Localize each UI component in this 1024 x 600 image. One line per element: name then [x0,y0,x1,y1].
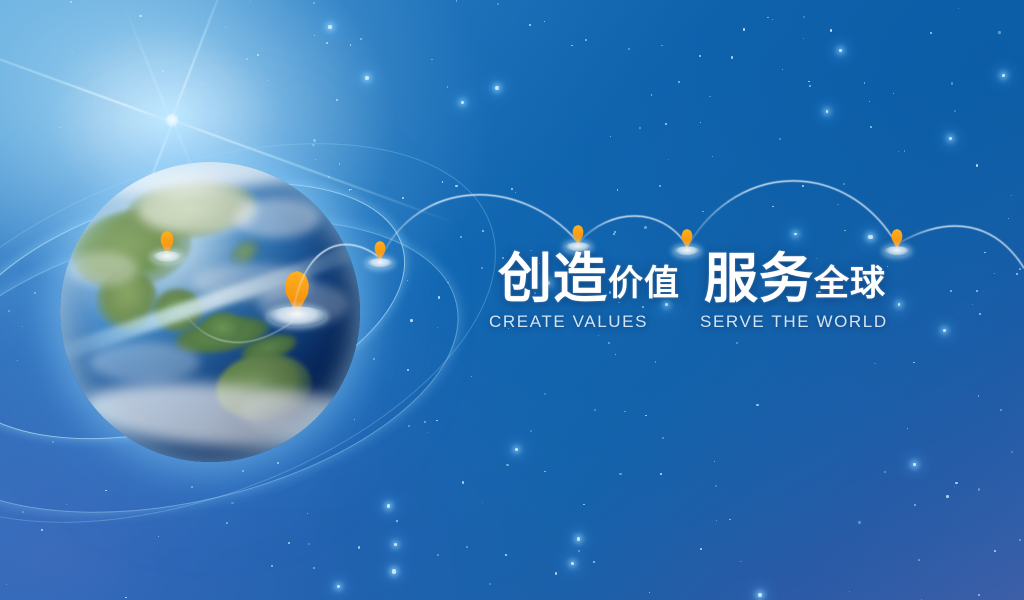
star-particle [858,521,860,523]
star-particle [946,495,949,498]
pin-marker-base [884,246,910,256]
banner-stage: 创造 价值 服务 全球 CREATE VALUES SERVE THE WORL… [0,0,1024,600]
star-particle [571,45,573,47]
globe-atmosphere-rim [60,162,360,462]
star-particle [979,313,982,316]
star-particle [172,123,173,124]
star-particle [17,360,18,361]
star-particle [271,565,273,567]
star-particle [615,354,616,355]
star-particle [312,144,314,146]
star-particle [645,415,647,417]
star-particle [231,502,233,504]
star-particle [392,569,396,573]
star-particle [571,562,574,565]
star-particle [437,327,438,328]
star-particle [803,38,804,39]
star-particle [958,8,959,9]
arc-1-to-2 [381,195,577,257]
star-particle [1002,74,1005,77]
star-particle [702,211,704,213]
star-particle [943,329,946,332]
star-particle [506,464,508,466]
star-particle [951,82,953,84]
star-particle [869,101,870,102]
route-pin-3 [680,230,694,252]
star-particle [407,280,409,282]
star-particle [699,55,701,57]
star-particle [893,93,894,94]
star-particle [978,594,980,596]
star-particle [436,420,437,421]
star-particle [529,24,531,26]
star-particle [455,185,457,187]
star-particle [288,542,290,544]
star-particle [849,591,850,592]
star-particle [314,35,315,36]
arc-2-to-3 [579,216,686,244]
star-particle [839,49,842,52]
star-particle [809,85,811,87]
star-particle [307,513,308,514]
star-particle [913,362,915,364]
star-particle [954,486,955,487]
star-particle [8,310,10,312]
star-particle [336,99,338,101]
star-particle [913,463,915,465]
star-particle [358,546,361,549]
star-particle [555,572,557,574]
star-particle [617,189,619,191]
star-particle [495,86,499,90]
star-particle [1019,268,1021,270]
star-particle [642,306,644,308]
star-particle [72,51,73,52]
star-particle [659,185,661,187]
star-particle [437,554,439,556]
star-particle [779,138,781,140]
star-particle [424,421,426,423]
star-particle [578,550,580,552]
star-particle [628,48,630,50]
star-particle [660,473,662,475]
star-particle [972,304,973,305]
headline-secondary-1: 价值 [608,264,680,306]
star-particle [870,126,872,128]
star-particle [844,230,845,231]
arc-3-to-4 [689,181,896,244]
star-particle [41,529,43,531]
star-particle [665,123,667,125]
star-particle [326,42,328,44]
star-particle [394,543,398,547]
star-particle [154,125,156,127]
pin-marker-drop [682,229,693,249]
star-particle [70,1,72,3]
star-particle [1011,195,1013,197]
route-pin-2 [571,226,585,248]
star-particle [930,32,932,34]
star-particle [360,38,363,41]
star-particle [976,164,978,166]
star-particle [6,584,8,586]
star-particle [267,80,268,81]
star-particle [431,59,433,61]
route-pin-1 [373,242,387,264]
star-particle [608,342,610,344]
star-particle [950,290,952,292]
globe-sphere [60,162,360,462]
star-particle [22,326,23,327]
star-particle [782,69,784,71]
star-particle [328,25,331,28]
star-particle [250,1,251,2]
star-particle [456,0,458,2]
star-particle [438,296,440,298]
star-particle [1011,451,1014,454]
star-particle [714,461,715,462]
star-particle [139,15,141,17]
lens-flare-ray [0,18,172,122]
star-particle [898,303,900,305]
star-particle [954,110,956,112]
star-particle [729,519,731,521]
star-particle [808,81,810,83]
star-particle [515,448,518,451]
star-particle [709,96,710,97]
star-particle [105,490,107,492]
star-particle [731,56,733,58]
star-particle [544,21,545,22]
star-particle [728,201,729,202]
star-particle [743,28,746,31]
lens-flare-ray [121,0,172,121]
star-particle [644,226,646,228]
star-particle [402,197,404,199]
star-particle [887,266,888,267]
star-particle [242,470,244,472]
star-particle [955,482,957,484]
star-particle [315,159,316,160]
star-particle [407,369,409,371]
star-particle [337,585,340,588]
star-particle [308,543,310,545]
star-particle [410,319,413,322]
star-particle [715,485,718,488]
headline-emphasis-1: 创造 [498,252,608,306]
star-particle [482,502,484,504]
star-particle [803,16,806,19]
star-particle [447,282,449,284]
star-particle [246,58,248,60]
star-particle [994,273,996,275]
star-particle [976,290,978,292]
star-particle [460,236,462,238]
star-particle [365,76,368,79]
star-particle [639,127,641,129]
star-particle [624,411,626,413]
star-particle [998,31,1001,34]
star-particle [1000,409,1002,411]
star-particle [772,19,773,20]
pin-marker-drop [573,225,584,245]
star-particle [511,188,513,190]
star-particle [544,393,546,395]
star-particle [442,181,443,182]
star-particle [649,592,650,593]
star-particle [408,425,410,427]
star-particle [843,183,845,185]
star-particle [373,358,376,361]
pin-marker-base [367,258,393,268]
star-particle [505,554,507,556]
star-particle [577,537,581,541]
star-particle [257,54,259,56]
star-particle [758,593,762,597]
star-particle [772,206,774,208]
star-particle [22,511,24,513]
star-particle [350,44,351,45]
star-particle [874,363,875,364]
star-particle [471,376,472,377]
star-particle [482,230,484,232]
star-particle [613,233,615,235]
star-particle [700,122,701,123]
star-particle [530,430,532,432]
star-particle [277,462,279,464]
star-particle [660,473,662,475]
star-particle [1008,218,1009,219]
star-particle [481,267,483,269]
star-particle [593,561,595,563]
star-particle [226,522,228,524]
star-particle [162,70,163,71]
star-particle [668,159,669,160]
star-particle [868,235,872,239]
star-particle [313,567,315,569]
star-particle [598,335,599,336]
star-particle [191,486,194,489]
lens-flare-ray [170,0,233,121]
star-particle [585,39,587,41]
star-particle [826,110,829,113]
arc-4-to-edge [899,226,1024,268]
star-particle [898,151,899,152]
star-particle [461,101,464,104]
subtitle-create-values: CREATE VALUES [489,312,648,332]
star-particle [489,583,491,585]
star-particle [52,441,54,443]
star-particle [904,150,906,152]
star-particle [447,86,449,88]
star-particle [1016,273,1018,275]
star-particle [661,45,662,46]
pin-marker-drop [375,241,386,261]
star-particle [34,292,36,294]
star-particle [978,395,980,397]
star-particle [651,94,653,96]
star-particle [156,159,157,160]
star-particle [462,481,464,483]
star-particle [515,192,516,193]
star-particle [736,342,738,344]
star-particle [655,361,657,363]
headline-emphasis-2: 服务 [704,252,814,306]
star-particle [427,432,428,433]
star-particle [619,473,621,475]
star-particle [678,81,680,83]
star-particle [837,204,839,206]
star-particle [884,471,886,473]
pin-marker-drop [892,229,903,249]
headline: 创造 价值 服务 全球 [498,252,886,306]
star-particle [583,504,585,506]
star-particle [158,536,159,537]
star-particle [978,488,980,490]
star-particle [60,127,62,129]
route-pin-4 [890,230,904,252]
star-particle [614,231,616,233]
star-particle [662,437,664,439]
star-particle [756,404,759,407]
star-particle [66,504,68,506]
star-particle [740,561,741,562]
star-particle [387,504,391,508]
subtitle-serve-the-world: SERVE THE WORLD [700,312,888,332]
star-particle [716,520,717,521]
star-particle [794,233,797,236]
star-particle [767,17,768,18]
earth-globe [60,162,360,462]
star-particle [396,520,398,522]
star-particle [830,29,833,32]
star-particle [802,185,804,187]
star-particle [168,104,171,107]
star-particle [994,550,996,552]
star-particle [984,252,986,254]
star-particle [594,409,597,412]
headline-secondary-2: 全球 [814,264,886,306]
star-particle [313,2,315,4]
star-particle [712,156,713,157]
star-particle [918,559,920,561]
star-particle [313,139,316,142]
star-particle [610,136,611,137]
star-particle [949,137,952,140]
lens-flare-core [163,111,181,129]
star-particle [700,548,702,550]
star-particle [907,428,908,429]
star-particle [864,82,866,84]
star-particle [466,546,468,548]
star-particle [125,597,127,599]
star-particle [544,471,546,473]
star-particle [1019,539,1021,541]
star-particle [225,27,226,28]
star-particle [914,504,916,506]
star-particle [497,3,499,5]
